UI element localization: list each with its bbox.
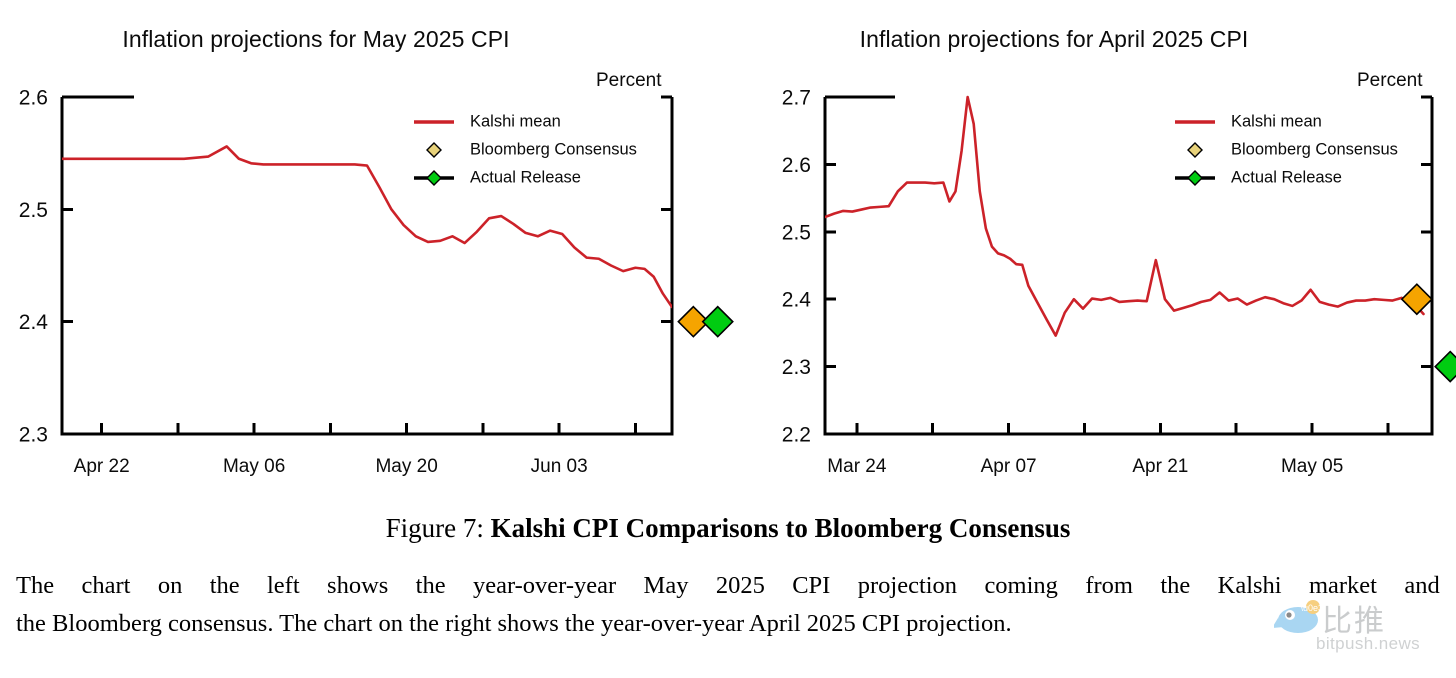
figure-number: Figure 7: <box>386 513 484 543</box>
legend-label-bloomberg-consensus: Bloomberg Consensus <box>1231 140 1398 158</box>
y-tick-label: 2.3 <box>782 356 811 379</box>
marker-actual-release <box>1435 352 1456 382</box>
y-tick-label: 2.3 <box>19 424 48 447</box>
legend-swatch-actual-release <box>1188 171 1202 185</box>
y-tick-label: 2.5 <box>782 221 811 244</box>
y-tick-label: 2.5 <box>19 199 48 222</box>
legend-label-actual-release: Actual Release <box>1231 168 1342 186</box>
figure-caption: Figure 7: Kalshi CPI Comparisons to Bloo… <box>0 513 1456 544</box>
x-tick-label: Apr 22 <box>74 456 130 477</box>
x-axis-ticks: Apr 22May 06May 20Jun 03 <box>74 423 636 477</box>
x-tick-label: Apr 21 <box>1132 456 1188 477</box>
chart-legend: Kalshi meanBloomberg ConsensusActual Rel… <box>1175 112 1398 186</box>
figure-title: Kalshi CPI Comparisons to Bloomberg Cons… <box>491 513 1071 543</box>
marker-bloomberg-consensus <box>1402 284 1432 314</box>
chart-legend: Kalshi meanBloomberg ConsensusActual Rel… <box>414 112 637 186</box>
caption-block: Figure 7: Kalshi CPI Comparisons to Bloo… <box>0 505 1456 678</box>
legend-label-actual-release: Actual Release <box>470 168 581 186</box>
x-tick-label: May 06 <box>223 456 285 477</box>
legend-label-bloomberg-consensus: Bloomberg Consensus <box>470 140 637 158</box>
plot-area-april-2025: 2.22.32.42.52.62.7Mar 24Apr 07Apr 21May … <box>728 0 1456 500</box>
body-line-1: Thechartontheleftshowstheyear-over-yearM… <box>16 567 1440 605</box>
y-tick-label: 2.7 <box>782 87 811 110</box>
y-tick-label: 2.2 <box>782 424 811 447</box>
x-tick-label: Mar 24 <box>827 456 887 477</box>
y-tick-label: 2.6 <box>782 154 811 177</box>
x-tick-label: May 05 <box>1281 456 1343 477</box>
chart-panel-may-2025: Inflation projections for May 2025 CPI P… <box>0 0 728 500</box>
legend-swatch-bloomberg-consensus <box>427 143 441 157</box>
y-tick-label: 2.4 <box>782 289 812 312</box>
legend-label-kalshi-mean: Kalshi mean <box>470 112 561 130</box>
figure-body-text: Thechartontheleftshowstheyear-over-yearM… <box>16 567 1440 643</box>
legend-swatch-actual-release <box>427 171 441 185</box>
y-tick-label: 2.4 <box>19 311 49 334</box>
legend-label-kalshi-mean: Kalshi mean <box>1231 112 1322 130</box>
x-tick-label: May 20 <box>375 456 437 477</box>
chart-panel-april-2025: Inflation projections for April 2025 CPI… <box>728 0 1456 500</box>
y-tick-label: 2.6 <box>19 87 48 110</box>
legend-swatch-bloomberg-consensus <box>1188 143 1202 157</box>
x-axis-ticks: Mar 24Apr 07Apr 21May 05 <box>827 423 1388 477</box>
plot-area-may-2025: 2.32.42.52.6Apr 22May 06May 20Jun 03Kals… <box>0 0 728 500</box>
body-line-2: the Bloomberg consensus. The chart on th… <box>16 605 1440 643</box>
series-line-kalshi-mean <box>825 97 1424 336</box>
x-tick-label: Jun 03 <box>531 456 588 477</box>
figure-root: Inflation projections for May 2025 CPI P… <box>0 0 1456 678</box>
x-tick-label: Apr 07 <box>981 456 1037 477</box>
